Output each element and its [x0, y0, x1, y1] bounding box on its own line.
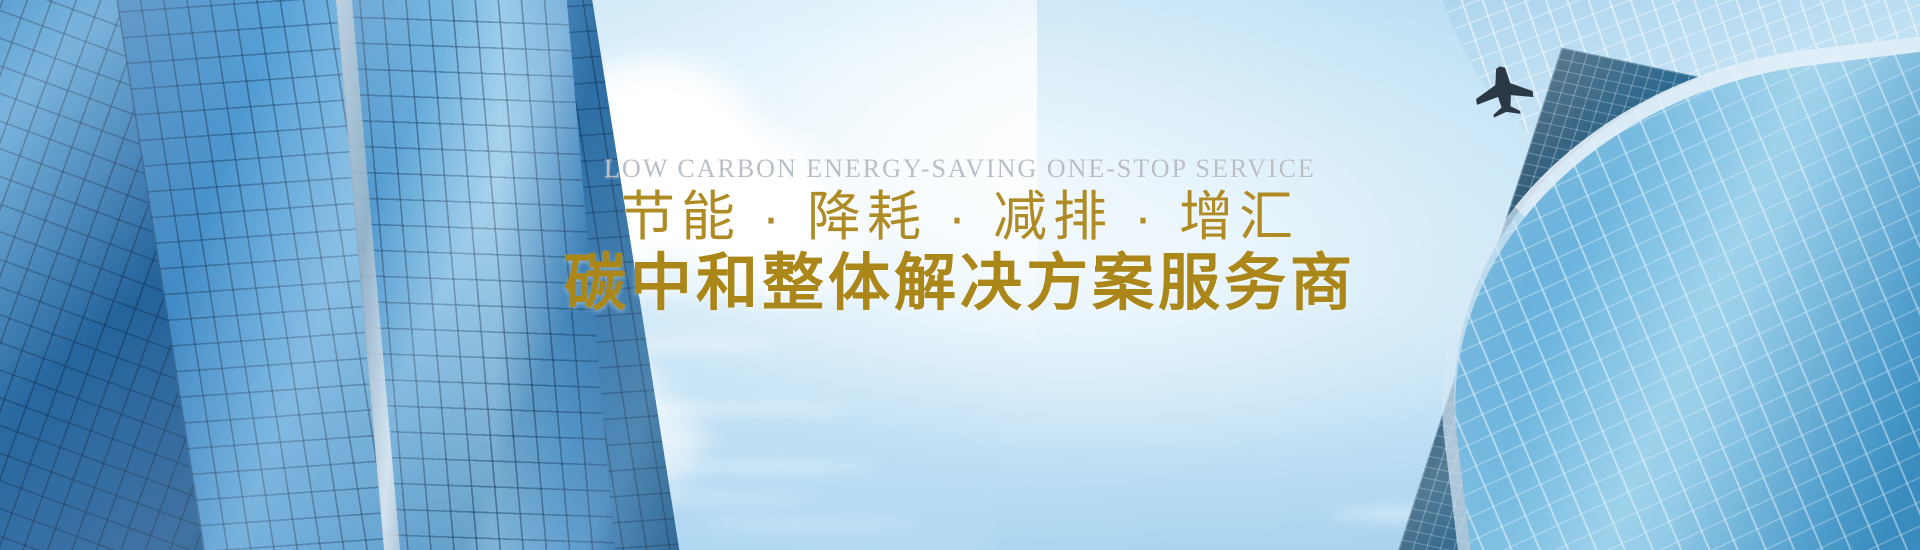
airplane-icon: [1469, 58, 1540, 120]
cirrus-wisp: [700, 520, 920, 528]
cirrus-wisp: [650, 462, 880, 471]
hero-banner: LOW CARBON ENERGY-SAVING ONE-STOP SERVIC…: [0, 0, 1920, 550]
